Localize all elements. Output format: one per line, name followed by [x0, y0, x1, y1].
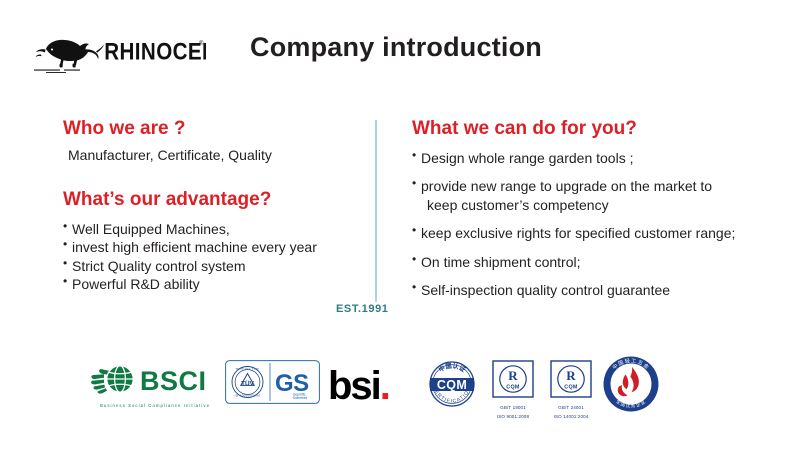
heading-who-we-are: Who we are ?	[63, 118, 363, 140]
cert-logo-cqm-iso14001: R CQM GB/T 24001 ISO 14001:2004	[550, 360, 592, 420]
svg-text:CQM: CQM	[437, 378, 467, 392]
cert-logo-bsi: bsi.	[328, 366, 389, 406]
left-column: Who we are ? Manufacturer, Certificate, …	[63, 118, 363, 293]
svg-text:中国认证: 中国认证	[437, 361, 468, 374]
bsi-wordmark-icon: bsi.	[328, 366, 389, 406]
svg-text:BSCI: BSCI	[140, 366, 207, 396]
list-item: Powerful R&D ability	[63, 275, 363, 293]
cert-caption-line-1: GB/T 19001	[500, 405, 526, 412]
list-item: Self-inspection quality control guarante…	[412, 281, 782, 299]
list-item: On time shipment control;	[412, 253, 782, 271]
rhinoceros-logo: RHINOCEROS ®	[28, 28, 206, 76]
list-item: invest high efficient machine every year	[63, 238, 363, 256]
bsi-label: bsi	[328, 364, 380, 408]
tuv-gs-icon: TÜV www.tuv.com ID 0000000000 GS Geprüft…	[225, 360, 320, 409]
svg-text:TÜV: TÜV	[241, 379, 255, 388]
svg-text:ID 0000000000: ID 0000000000	[235, 394, 261, 398]
list-item-text: provide new range to upgrade on the mark…	[421, 178, 712, 194]
cert-caption-line-2: ISO 14001:2004	[554, 414, 589, 421]
cqm-r-mark-icon: R CQM	[492, 360, 534, 403]
cert-logo-tuv-gs: TÜV www.tuv.com ID 0000000000 GS Geprüft…	[225, 360, 320, 409]
page-title: Company introduction	[250, 32, 542, 63]
svg-text:www.tuv.com: www.tuv.com	[236, 366, 260, 370]
capability-bullet-list: Design whole range garden tools ; provid…	[412, 149, 782, 300]
established-badge: EST.1991	[336, 303, 389, 315]
certification-strip: BSCI Business Social Compliance Initiati…	[0, 352, 800, 424]
cert-logo-flame-seal: 中国轻工五金 全国优秀企业	[602, 355, 660, 418]
subtitle-who-we-are: Manufacturer, Certificate, Quality	[68, 146, 363, 165]
cert-logo-cqm: 中国认证 CERTIFICATION CQM	[418, 358, 486, 415]
cert-caption-line-1: GB/T 24001	[558, 405, 584, 412]
list-item-text: Self-inspection quality control guarante…	[421, 282, 670, 298]
list-item: Strict Quality control system	[63, 257, 363, 275]
list-item-text: On time shipment control;	[421, 254, 581, 270]
list-item-text: keep exclusive rights for specified cust…	[421, 225, 735, 241]
bsci-globe-hand-icon: BSCI	[90, 362, 220, 401]
cert-logo-cqm-iso9001: R CQM GB/T 19001 ISO 9001:2008	[492, 360, 534, 420]
list-item-text: Design whole range garden tools ;	[421, 150, 633, 166]
slide-canvas: RHINOCEROS ® Company introduction EST.19…	[0, 0, 800, 449]
svg-text:R: R	[566, 368, 576, 383]
chinese-flame-seal-icon: 中国轻工五金 全国优秀企业	[602, 355, 660, 418]
column-divider	[375, 120, 377, 302]
heading-what-we-can-do: What we can do for you?	[412, 118, 782, 140]
list-item: Well Equipped Machines,	[63, 220, 363, 238]
cert-logo-bsci: BSCI Business Social Compliance Initiati…	[90, 362, 220, 408]
list-item: provide new range to upgrade on the mark…	[412, 177, 782, 214]
cert-caption-line-2: ISO 9001:2008	[497, 414, 529, 421]
bsi-dot: .	[380, 364, 389, 408]
list-item-continuation: keep customer’s competency	[421, 196, 782, 214]
list-item: keep exclusive rights for specified cust…	[412, 224, 782, 242]
heading-our-advantage: What’s our advantage?	[63, 189, 363, 211]
svg-text:CQM: CQM	[506, 384, 520, 390]
list-item: Design whole range garden tools ;	[412, 149, 782, 167]
svg-text:R: R	[508, 368, 518, 383]
svg-text:Sicherheit: Sicherheit	[293, 396, 307, 400]
cqm-r-mark-icon: R CQM	[550, 360, 592, 403]
cqm-seal-icon: 中国认证 CERTIFICATION CQM	[418, 358, 486, 415]
svg-text:RHINOCEROS: RHINOCEROS	[104, 38, 206, 65]
right-column: What we can do for you? Design whole ran…	[412, 118, 782, 310]
svg-text:CQM: CQM	[564, 384, 578, 390]
bsci-tagline: Business Social Compliance Initiative	[100, 403, 210, 408]
svg-text:®: ®	[199, 40, 204, 47]
advantage-bullet-list: Well Equipped Machines, invest high effi…	[63, 220, 363, 294]
